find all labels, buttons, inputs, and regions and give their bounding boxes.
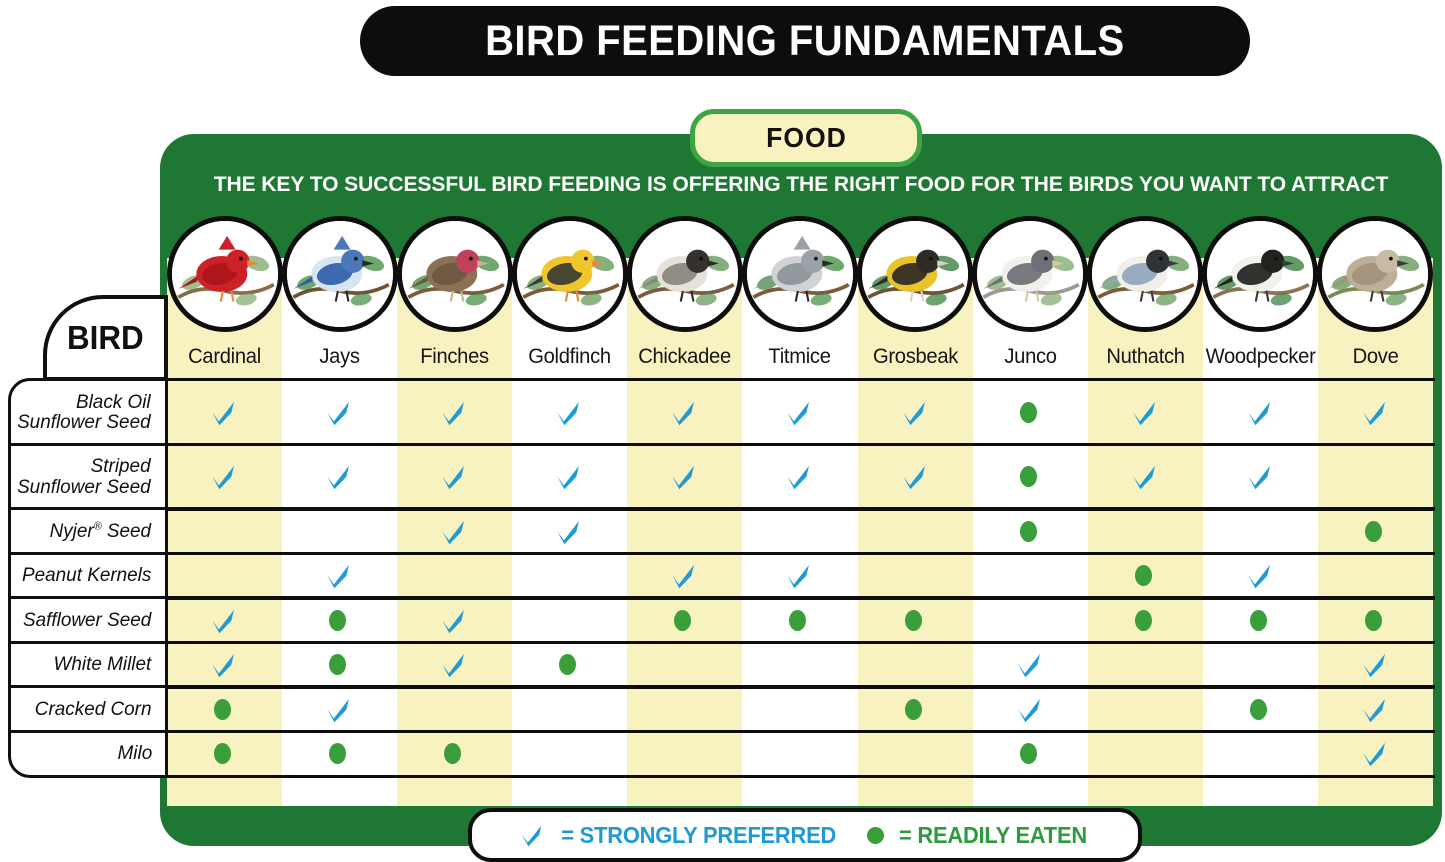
food-row-header-label: Milo: [118, 743, 153, 763]
dot-icon: [329, 610, 346, 631]
food-row-header-label: Safflower Seed: [23, 610, 151, 630]
cell-chickadee-safflowerseed: [625, 599, 740, 641]
dot-icon: [1365, 521, 1382, 542]
cell-finches-whitemillet: [395, 644, 510, 686]
legend: = STRONGLY PREFERRED = READILY EATEN: [468, 808, 1142, 862]
dot-icon: [1020, 521, 1037, 542]
cell-chickadee-peanutkernels: [625, 555, 740, 597]
cell-dove-safflowerseed: [1316, 599, 1431, 641]
dot-icon: [1135, 610, 1152, 631]
cell-cardinal-blackoilsunflowerseed: [165, 381, 280, 443]
check-icon: [1244, 561, 1273, 590]
legend-dot-label: = READILY EATEN: [899, 822, 1087, 849]
dot-icon: [214, 743, 231, 764]
cell-dove-blackoilsunflowerseed: [1316, 381, 1431, 443]
bird-axis-label-text: BIRD: [67, 319, 144, 357]
cell-woodpecker-safflowerseed: [1201, 599, 1316, 641]
check-icon: [208, 650, 237, 679]
cell-nuthatch-blackoilsunflowerseed: [1086, 381, 1201, 443]
cell-grosbeak-peanutkernels: [855, 555, 970, 597]
cell-goldfinch-peanutkernels: [510, 555, 625, 597]
food-row-header-label: Nyjer® Seed: [50, 521, 151, 541]
dot-icon: [867, 827, 884, 844]
cell-nuthatch-safflowerseed: [1086, 599, 1201, 641]
dot-icon: [1020, 743, 1037, 764]
food-row-headers: Black OilSunflower SeedStripedSunflower …: [8, 378, 168, 778]
table-row: [165, 507, 1435, 555]
cell-grosbeak-milo: [855, 733, 970, 775]
cell-goldfinch-milo: [510, 733, 625, 775]
titmouse-bird-icon: [742, 216, 858, 332]
cell-woodpecker-peanutkernels: [1201, 555, 1316, 597]
check-icon: [553, 398, 582, 427]
bird-column-header-label: Junco: [1004, 345, 1056, 369]
table-row: [165, 552, 1435, 600]
cell-jays-whitemillet: [280, 644, 395, 686]
dot-icon: [905, 610, 922, 631]
cell-finches-blackoilsunflowerseed: [395, 381, 510, 443]
cell-finches-milo: [395, 733, 510, 775]
cell-jays-stripedsunflowerseed: [280, 446, 395, 508]
food-row-header: Cracked Corn: [8, 685, 168, 733]
cell-grosbeak-nyjerseed: [855, 510, 970, 552]
check-icon: [1359, 695, 1388, 724]
cell-grosbeak-blackoilsunflowerseed: [855, 381, 970, 443]
cell-nuthatch-milo: [1086, 733, 1201, 775]
goldfinch-bird-icon: [512, 216, 628, 332]
food-row-header: Peanut Kernels: [8, 552, 168, 600]
woodpecker-bird-icon: [1202, 216, 1318, 332]
check-icon: [438, 650, 467, 679]
nuthatch-bird-icon: [1087, 216, 1203, 332]
cell-junco-safflowerseed: [971, 599, 1086, 641]
bird-column-header-woodpecker: Woodpecker: [1205, 336, 1315, 378]
cell-junco-blackoilsunflowerseed: [971, 381, 1086, 443]
cell-goldfinch-whitemillet: [510, 644, 625, 686]
cell-titmice-nyjerseed: [740, 510, 855, 552]
cell-chickadee-blackoilsunflowerseed: [625, 381, 740, 443]
cell-grosbeak-crackedcorn: [855, 688, 970, 730]
cell-jays-milo: [280, 733, 395, 775]
check-icon: [438, 462, 467, 491]
cell-grosbeak-stripedsunflowerseed: [855, 446, 970, 508]
cell-titmice-blackoilsunflowerseed: [740, 381, 855, 443]
bird-column-header-label: Finches: [420, 345, 489, 369]
cell-dove-crackedcorn: [1316, 688, 1431, 730]
bird-column-header-grosbeak: Grosbeak: [860, 336, 970, 378]
dot-icon: [1020, 402, 1037, 423]
cell-junco-milo: [971, 733, 1086, 775]
cell-nuthatch-stripedsunflowerseed: [1086, 446, 1201, 508]
cell-goldfinch-safflowerseed: [510, 599, 625, 641]
cell-finches-nyjerseed: [395, 510, 510, 552]
cell-cardinal-nyjerseed: [165, 510, 280, 552]
check-icon: [1129, 398, 1158, 427]
cell-dove-peanutkernels: [1316, 555, 1431, 597]
check-icon: [323, 695, 352, 724]
cell-titmice-crackedcorn: [740, 688, 855, 730]
cell-jays-crackedcorn: [280, 688, 395, 730]
bird-axis-label: BIRD: [43, 295, 168, 381]
bird-column-header-goldfinch: Goldfinch: [515, 336, 625, 378]
cell-chickadee-whitemillet: [625, 644, 740, 686]
cell-jays-peanutkernels: [280, 555, 395, 597]
junco-bird-icon: [972, 216, 1088, 332]
check-icon: [553, 517, 582, 546]
food-row-header: White Millet: [8, 641, 168, 689]
chart-subtitle: THE KEY TO SUCCESSFUL BIRD FEEDING IS OF…: [173, 172, 1429, 197]
cell-junco-nyjerseed: [971, 510, 1086, 552]
dot-icon: [559, 654, 576, 675]
table-row: [165, 443, 1435, 511]
dot-icon: [444, 743, 461, 764]
bird-column-header-label: Cardinal: [188, 345, 261, 369]
bird-portrait-row: [160, 216, 1442, 340]
bird-column-header-chickadee: Chickadee: [630, 336, 740, 378]
cell-woodpecker-nyjerseed: [1201, 510, 1316, 552]
check-icon: [438, 517, 467, 546]
check-icon: [1014, 695, 1043, 724]
cell-nuthatch-peanutkernels: [1086, 555, 1201, 597]
dot-icon: [905, 699, 922, 720]
cell-nuthatch-crackedcorn: [1086, 688, 1201, 730]
cell-titmice-peanutkernels: [740, 555, 855, 597]
dot-icon: [1250, 699, 1267, 720]
cell-junco-whitemillet: [971, 644, 1086, 686]
check-icon: [1014, 650, 1043, 679]
bird-column-header-titmice: Titmice: [745, 336, 855, 378]
check-icon: [208, 398, 237, 427]
food-row-header-label: Cracked Corn: [35, 699, 152, 719]
blue-jay-bird-icon: [282, 216, 398, 332]
cell-dove-stripedsunflowerseed: [1316, 446, 1431, 508]
food-row-header-label: Peanut Kernels: [22, 565, 151, 585]
check-icon: [208, 462, 237, 491]
food-row-header: Nyjer® Seed: [8, 507, 168, 555]
cell-chickadee-stripedsunflowerseed: [625, 446, 740, 508]
cell-grosbeak-safflowerseed: [855, 599, 970, 641]
grosbeak-bird-icon: [857, 216, 973, 332]
cell-nuthatch-nyjerseed: [1086, 510, 1201, 552]
bird-column-header-label: Nuthatch: [1106, 345, 1184, 369]
cell-woodpecker-stripedsunflowerseed: [1201, 446, 1316, 508]
cell-cardinal-crackedcorn: [165, 688, 280, 730]
table-row: [165, 596, 1435, 644]
cell-titmice-stripedsunflowerseed: [740, 446, 855, 508]
cell-titmice-whitemillet: [740, 644, 855, 686]
check-icon: [783, 462, 812, 491]
dot-icon: [674, 610, 691, 631]
check-icon: [783, 398, 812, 427]
cell-dove-whitemillet: [1316, 644, 1431, 686]
check-icon: [323, 462, 352, 491]
cell-finches-peanutkernels: [395, 555, 510, 597]
check-icon: [668, 462, 697, 491]
house-finch-bird-icon: [397, 216, 513, 332]
food-row-header-label: StripedSunflower Seed: [17, 456, 151, 497]
cell-junco-stripedsunflowerseed: [971, 446, 1086, 508]
cell-titmice-safflowerseed: [740, 599, 855, 641]
cell-jays-safflowerseed: [280, 599, 395, 641]
cell-chickadee-milo: [625, 733, 740, 775]
check-icon: [783, 561, 812, 590]
bird-column-header-label: Titmice: [769, 345, 831, 369]
cell-goldfinch-blackoilsunflowerseed: [510, 381, 625, 443]
bird-column-header-jays: Jays: [284, 336, 394, 378]
cell-grosbeak-whitemillet: [855, 644, 970, 686]
cell-goldfinch-nyjerseed: [510, 510, 625, 552]
bird-column-header-label: Chickadee: [639, 345, 732, 369]
cell-nuthatch-whitemillet: [1086, 644, 1201, 686]
cell-goldfinch-crackedcorn: [510, 688, 625, 730]
check-icon: [1244, 462, 1273, 491]
check-icon: [1244, 398, 1273, 427]
check-icon: [1129, 462, 1158, 491]
food-row-header-label: Black OilSunflower Seed: [17, 392, 151, 433]
check-icon: [518, 822, 544, 848]
check-icon: [668, 398, 697, 427]
bird-column-header-junco: Junco: [975, 336, 1085, 378]
cell-dove-milo: [1316, 733, 1431, 775]
bird-column-header-label: Goldfinch: [529, 345, 612, 369]
cell-cardinal-whitemillet: [165, 644, 280, 686]
cell-finches-stripedsunflowerseed: [395, 446, 510, 508]
check-icon: [438, 606, 467, 635]
cell-chickadee-nyjerseed: [625, 510, 740, 552]
cell-cardinal-stripedsunflowerseed: [165, 446, 280, 508]
cell-jays-blackoilsunflowerseed: [280, 381, 395, 443]
cell-jays-nyjerseed: [280, 510, 395, 552]
cell-woodpecker-whitemillet: [1201, 644, 1316, 686]
infographic-root: BIRD FEEDING FUNDAMENTALS FOOD THE KEY T…: [0, 0, 1445, 862]
check-icon: [1359, 398, 1388, 427]
dot-icon: [329, 654, 346, 675]
bird-column-header-finches: Finches: [399, 336, 509, 378]
food-row-header: StripedSunflower Seed: [8, 443, 168, 511]
bird-column-header-label: Woodpecker: [1205, 345, 1315, 369]
food-row-header-label: White Millet: [54, 654, 152, 674]
check-icon: [323, 398, 352, 427]
page-title: BIRD FEEDING FUNDAMENTALS: [360, 6, 1250, 76]
bird-column-header-label: Grosbeak: [873, 345, 958, 369]
cell-cardinal-peanutkernels: [165, 555, 280, 597]
table-row: [165, 378, 1435, 446]
food-row-header: Safflower Seed: [8, 596, 168, 644]
cell-cardinal-safflowerseed: [165, 599, 280, 641]
check-icon: [1359, 739, 1388, 768]
cell-dove-nyjerseed: [1316, 510, 1431, 552]
mourning-dove-bird-icon: [1317, 216, 1433, 332]
dot-icon: [1250, 610, 1267, 631]
check-icon: [899, 398, 928, 427]
dot-icon: [1135, 565, 1152, 586]
check-icon: [553, 462, 582, 491]
dot-icon: [214, 699, 231, 720]
cell-woodpecker-crackedcorn: [1201, 688, 1316, 730]
food-row-header: Milo: [8, 730, 168, 778]
dot-icon: [1365, 610, 1382, 631]
cell-junco-crackedcorn: [971, 688, 1086, 730]
table-row: [165, 730, 1435, 778]
bird-column-header-cardinal: Cardinal: [169, 336, 279, 378]
table-row: [165, 641, 1435, 689]
check-icon: [208, 606, 237, 635]
matrix-grid: [165, 378, 1435, 774]
cell-finches-safflowerseed: [395, 599, 510, 641]
cell-finches-crackedcorn: [395, 688, 510, 730]
cell-woodpecker-blackoilsunflowerseed: [1201, 381, 1316, 443]
check-icon: [323, 561, 352, 590]
dot-icon: [1020, 466, 1037, 487]
cardinal-bird-icon: [167, 216, 283, 332]
cell-cardinal-milo: [165, 733, 280, 775]
cell-titmice-milo: [740, 733, 855, 775]
food-axis-label-text: FOOD: [766, 122, 847, 154]
dot-icon: [329, 743, 346, 764]
cell-chickadee-crackedcorn: [625, 688, 740, 730]
table-row: [165, 685, 1435, 733]
bird-column-header-nuthatch: Nuthatch: [1090, 336, 1200, 378]
legend-check-label: = STRONGLY PREFERRED: [561, 822, 836, 849]
check-icon: [668, 561, 697, 590]
bird-column-header-label: Jays: [319, 345, 359, 369]
check-icon: [899, 462, 928, 491]
dot-icon: [789, 610, 806, 631]
food-axis-label: FOOD: [690, 109, 922, 167]
cell-junco-peanutkernels: [971, 555, 1086, 597]
check-icon: [438, 398, 467, 427]
cell-woodpecker-milo: [1201, 733, 1316, 775]
chickadee-bird-icon: [627, 216, 743, 332]
bird-column-header-label: Dove: [1352, 345, 1398, 369]
bird-column-header-dove: Dove: [1320, 336, 1430, 378]
food-row-header: Black OilSunflower Seed: [8, 378, 168, 446]
page-title-text: BIRD FEEDING FUNDAMENTALS: [485, 17, 1125, 66]
check-icon: [1359, 650, 1388, 679]
cell-goldfinch-stripedsunflowerseed: [510, 446, 625, 508]
